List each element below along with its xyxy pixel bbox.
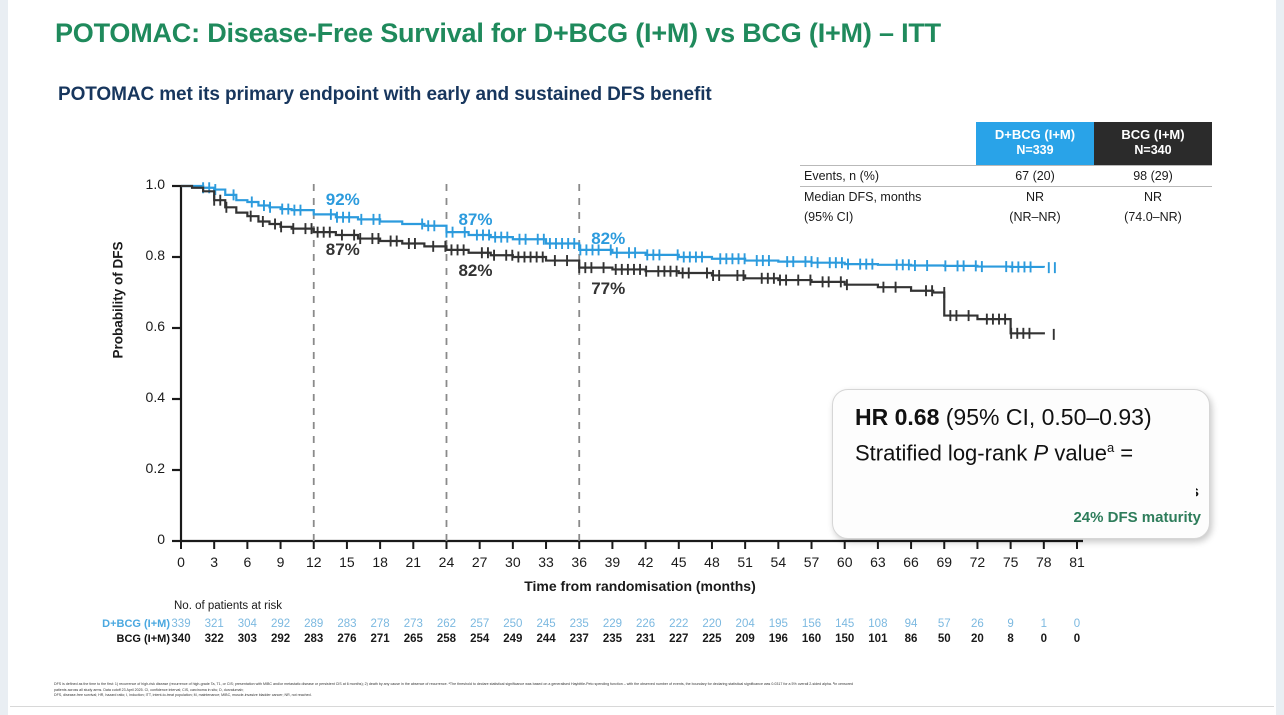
pvalue-prefix: Stratified log-rank [855,440,1034,465]
risk-count: 254 [467,633,493,645]
x-tick-label: 42 [631,554,661,570]
risk-count: 340 [168,633,194,645]
risk-count: 303 [234,633,260,645]
x-tick-label: 36 [564,554,594,570]
risk-count: 276 [334,633,360,645]
hr-ci: (95% CI, 0.50–0.93) [939,404,1151,430]
risk-count: 86 [898,633,924,645]
risk-count: 271 [367,633,393,645]
x-axis-label: Time from randomisation (months) [524,578,756,594]
risk-count: 209 [732,633,758,645]
pvalue-word: value [1048,440,1107,465]
x-tick-label: 39 [597,554,627,570]
x-tick-label: 0 [166,554,196,570]
risk-count: 226 [633,618,659,630]
risk-count: 0 [1064,633,1090,645]
y-axis-label: Probability of DFS [111,241,126,358]
dfs-maturity-label: 24% DFS maturity [1073,509,1201,526]
x-tick-label: 18 [365,554,395,570]
x-tick-label: 45 [664,554,694,570]
risk-count: 292 [268,633,294,645]
x-tick-label: 48 [697,554,727,570]
risk-count: 321 [201,618,227,630]
risk-count: 220 [699,618,725,630]
risk-count: 150 [832,633,858,645]
risk-row-label-arm1: D+BCG (I+M) [96,618,170,630]
risk-count: 283 [334,618,360,630]
x-tick-label: 66 [896,554,926,570]
x-tick-label: 3 [199,554,229,570]
pvalue-equals: = [1114,440,1133,465]
x-tick-label: 12 [299,554,329,570]
x-tick-label: 69 [929,554,959,570]
pvalue-p-italic: P [1034,440,1049,465]
risk-count: 196 [765,633,791,645]
risk-count: 244 [533,633,559,645]
pvalue-occlusion-overlay [846,478,1196,502]
risk-count: 0 [1064,618,1090,630]
risk-count: 225 [699,633,725,645]
hazard-ratio-callout: HR 0.68 (95% CI, 0.50–0.93) Stratified l… [832,389,1210,539]
risk-count: 283 [301,633,327,645]
x-tick-label: 75 [996,554,1026,570]
curve-annotation: 82% [458,261,492,281]
y-tick-label: 0 [125,531,165,547]
risk-count: 94 [898,618,924,630]
risk-count: 108 [865,618,891,630]
x-tick-label: 6 [232,554,262,570]
x-tick-label: 24 [431,554,461,570]
risk-count: 145 [832,618,858,630]
risk-count: 292 [268,618,294,630]
x-tick-label: 33 [531,554,561,570]
risk-count: 265 [400,633,426,645]
curve-annotation: 87% [326,240,360,260]
risk-count: 278 [367,618,393,630]
hr-line: HR 0.68 (95% CI, 0.50–0.93) [855,404,1152,431]
risk-count: 235 [566,618,592,630]
risk-count: 20 [964,633,990,645]
risk-count: 289 [301,618,327,630]
risk-count: 101 [865,633,891,645]
risk-count: 50 [931,633,957,645]
x-tick-label: 57 [797,554,827,570]
risk-count: 9 [998,618,1024,630]
x-tick-label: 27 [465,554,495,570]
risk-count: 227 [666,633,692,645]
risk-count: 250 [500,618,526,630]
curve-annotation: 77% [591,279,625,299]
risk-count: 339 [168,618,194,630]
risk-count: 1 [1031,618,1057,630]
footer-divider [10,706,1274,707]
x-tick-label: 81 [1062,554,1092,570]
risk-count: 258 [433,633,459,645]
footnote-line-3: DFS, disease-free survival; HR, hazard r… [54,693,1234,699]
y-tick-label: 0.8 [125,247,165,263]
x-tick-label: 72 [962,554,992,570]
x-tick-label: 21 [398,554,428,570]
x-tick-label: 9 [266,554,296,570]
risk-count: 262 [433,618,459,630]
risk-count: 273 [400,618,426,630]
risk-count: 231 [633,633,659,645]
risk-count: 204 [732,618,758,630]
risk-count: 160 [799,633,825,645]
y-tick-label: 0.6 [125,318,165,334]
risk-count: 26 [964,618,990,630]
hr-value: HR 0.68 [855,404,939,430]
x-tick-label: 63 [863,554,893,570]
risk-count: 8 [998,633,1024,645]
risk-count: 245 [533,618,559,630]
risk-count: 249 [500,633,526,645]
risk-table-caption: No. of patients at risk [174,600,282,612]
x-tick-label: 54 [763,554,793,570]
footnotes: DFS is defined as the time to the first:… [54,682,1234,699]
y-tick-label: 1.0 [125,176,165,192]
risk-count: 237 [566,633,592,645]
x-tick-label: 51 [730,554,760,570]
y-tick-label: 0.2 [125,460,165,476]
x-tick-label: 78 [1029,554,1059,570]
risk-row-label-arm2: BCG (I+M) [96,633,170,645]
y-tick-label: 0.4 [125,389,165,405]
pvalue-line: Stratified log-rank P valuea = [855,440,1133,466]
risk-count: 235 [599,633,625,645]
x-tick-label: 60 [830,554,860,570]
risk-count: 57 [931,618,957,630]
risk-count: 195 [765,618,791,630]
risk-count: 322 [201,633,227,645]
risk-count: 0 [1031,633,1057,645]
curve-annotation: 87% [458,210,492,230]
x-tick-label: 30 [498,554,528,570]
curve-annotation: 82% [591,229,625,249]
risk-count: 222 [666,618,692,630]
risk-count: 229 [599,618,625,630]
risk-count: 156 [799,618,825,630]
x-tick-label: 15 [332,554,362,570]
km-curve-1 [181,186,1044,268]
risk-count: 304 [234,618,260,630]
curve-annotation: 92% [326,190,360,210]
risk-count: 257 [467,618,493,630]
